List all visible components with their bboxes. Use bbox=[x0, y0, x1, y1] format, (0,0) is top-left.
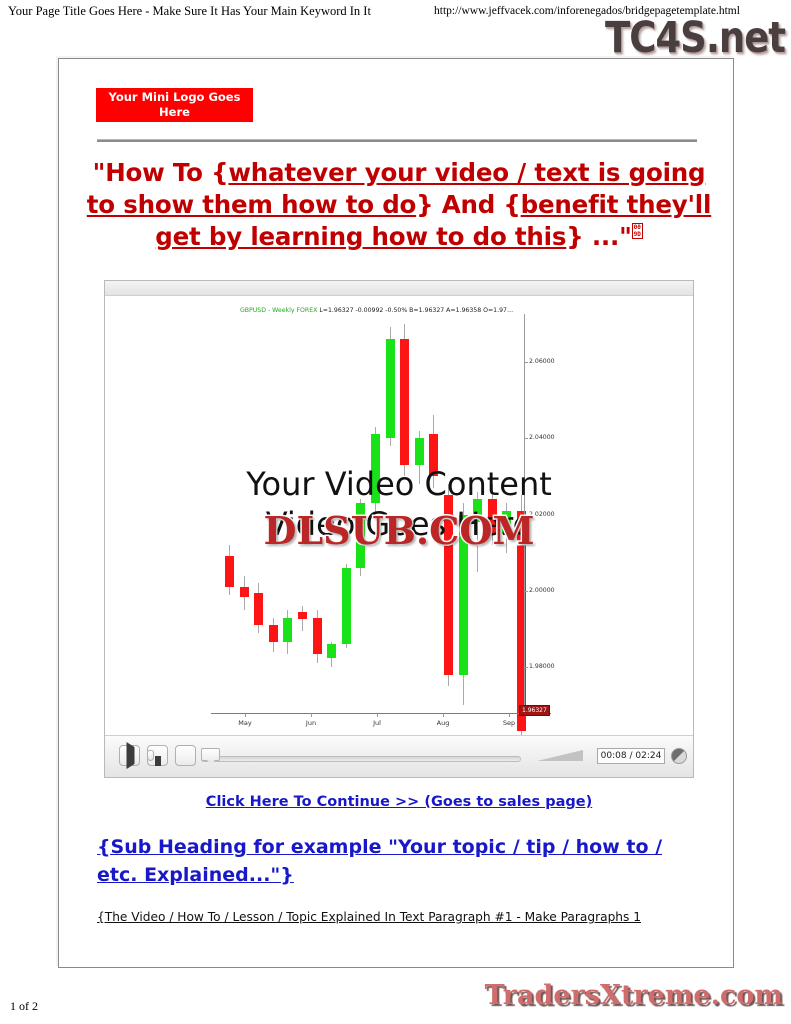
candle-body bbox=[240, 587, 249, 597]
x-tick-label: May bbox=[238, 719, 251, 727]
sub-heading[interactable]: {Sub Heading for example "Your topic / t… bbox=[97, 833, 707, 889]
y-tick bbox=[524, 667, 528, 668]
candle-body bbox=[371, 434, 380, 503]
candle-body bbox=[342, 568, 351, 644]
y-tick bbox=[524, 438, 528, 439]
current-price-tag: 1.96327 bbox=[519, 705, 550, 716]
player-topbar bbox=[105, 281, 693, 296]
seek-handle[interactable] bbox=[201, 748, 220, 761]
y-tick-label: 2.00000 bbox=[529, 587, 555, 594]
page-number: 1 of 2 bbox=[10, 999, 38, 1014]
x-tick bbox=[509, 713, 510, 717]
page-title: Your Page Title Goes Here - Make Sure It… bbox=[8, 4, 371, 19]
y-tick-label: 2.04000 bbox=[529, 434, 555, 441]
candle-body bbox=[313, 618, 322, 654]
printed-page: Your Page Title Goes Here - Make Sure It… bbox=[0, 0, 791, 1024]
candle-body bbox=[269, 625, 278, 642]
body-paragraph: {The Video / How To / Lesson / Topic Exp… bbox=[97, 909, 712, 926]
x-tick-label: Jul bbox=[373, 719, 381, 727]
candle-body bbox=[327, 644, 336, 657]
page-sheet: Your Mini Logo Goes Here "How To {whatev… bbox=[58, 58, 734, 968]
y-tick-label: 1.98000 bbox=[529, 663, 555, 670]
fullscreen-icon[interactable] bbox=[671, 748, 687, 764]
video-stage[interactable]: GBPUSD - Weekly FOREX L=1.96327 -0.00992… bbox=[105, 296, 693, 736]
volume-icon bbox=[537, 750, 583, 761]
headline-part2: } And { bbox=[416, 190, 520, 219]
candle-body bbox=[386, 339, 395, 438]
volume-slider[interactable] bbox=[537, 749, 585, 763]
chart-quote-line: GBPUSD - Weekly FOREX L=1.96327 -0.00992… bbox=[240, 307, 513, 314]
candle-body bbox=[415, 438, 424, 465]
player-controls[interactable]: 00:08 / 02:24 bbox=[105, 735, 693, 777]
tradersxtreme-watermark: TradersXtreme.com bbox=[485, 980, 783, 1011]
chart-interval: Weekly bbox=[272, 307, 294, 314]
cta-link[interactable]: Click Here To Continue >> (Goes to sales… bbox=[83, 794, 715, 810]
header-divider bbox=[97, 139, 697, 142]
candle-body bbox=[429, 434, 438, 476]
candle-body bbox=[283, 618, 292, 643]
x-tick bbox=[245, 713, 246, 717]
y-tick bbox=[524, 362, 528, 363]
x-tick bbox=[443, 713, 444, 717]
play-icon bbox=[125, 747, 134, 765]
seek-bar[interactable] bbox=[201, 756, 521, 762]
overlay-line-1: Your Video Content bbox=[105, 464, 693, 504]
dlsub-watermark: DLSUB.COM bbox=[263, 508, 534, 553]
y-tick bbox=[524, 591, 528, 592]
x-tick-label: Jun bbox=[306, 719, 316, 727]
y-tick-label: 2.06000 bbox=[529, 358, 555, 365]
time-display: 00:08 / 02:24 bbox=[597, 748, 665, 764]
headline-part1: "How To { bbox=[93, 158, 229, 187]
chart-symbol: GBPUSD bbox=[240, 307, 266, 314]
headline: "How To {whatever your video / text is g… bbox=[83, 157, 715, 253]
mini-logo: Your Mini Logo Goes Here bbox=[96, 88, 253, 122]
candle-body bbox=[254, 593, 263, 625]
missing-glyph-icon: 009D bbox=[632, 223, 643, 239]
x-tick-label: Aug bbox=[437, 719, 450, 727]
chart-x-axis bbox=[211, 713, 551, 714]
headline-part3: } ..." bbox=[566, 222, 631, 251]
chart-market: FOREX bbox=[296, 307, 317, 314]
tc4s-watermark: TC4S.net bbox=[605, 13, 785, 62]
x-tick bbox=[311, 713, 312, 717]
volume-handle[interactable] bbox=[147, 750, 154, 761]
candle-body bbox=[225, 556, 234, 587]
x-tick bbox=[377, 713, 378, 717]
play-button[interactable] bbox=[119, 745, 140, 766]
video-player[interactable]: GBPUSD - Weekly FOREX L=1.96327 -0.00992… bbox=[104, 280, 694, 778]
x-tick-label: Sep bbox=[503, 719, 515, 727]
candle-body bbox=[400, 339, 409, 465]
candle-body bbox=[298, 612, 307, 620]
chart-stats: L=1.96327 -0.00992 -0.50% B=1.96327 A=1.… bbox=[319, 307, 513, 314]
stop-button[interactable] bbox=[175, 745, 196, 766]
